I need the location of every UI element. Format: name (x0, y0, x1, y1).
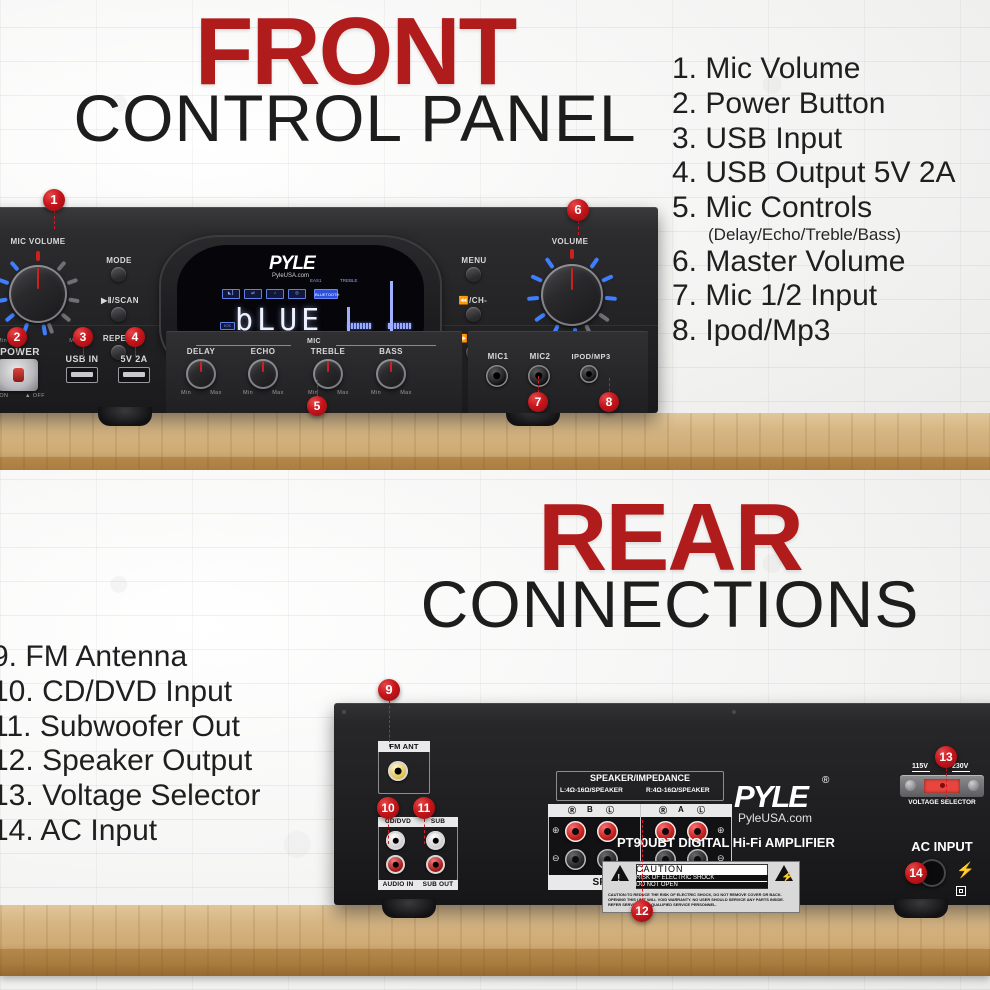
callout-badge-9[interactable]: 9 (378, 679, 400, 701)
post-label-r-a: Ⓡ (659, 805, 667, 816)
menu-button-label: MENU (450, 256, 498, 265)
mic-group-label: MIC (290, 338, 338, 345)
callout-badge-3[interactable]: 3 (73, 327, 93, 347)
registered-mark-rear: ® (822, 775, 829, 786)
volume-label: VOLUME (534, 237, 606, 246)
pyle-site-display: PyleUSA.com (272, 273, 309, 279)
usb-in-label: USB IN (56, 354, 108, 364)
pyle-site-rear: PyleUSA.com (738, 811, 812, 825)
mic2-jack[interactable] (528, 365, 550, 387)
legend-item: 1. Mic Volume (672, 52, 956, 87)
treble-max-label: Max (334, 390, 352, 396)
legend-item: 3. USB Input (672, 122, 956, 157)
bass-min-label: Min (367, 390, 385, 396)
sd-icon: ♪ (266, 289, 284, 299)
mic1-jack[interactable] (486, 365, 508, 387)
rear-heading-subtitle: CONNECTIONS (350, 574, 990, 635)
audio-in-label: AUDIO IN (378, 880, 418, 890)
usb-in-port[interactable] (66, 367, 98, 383)
play-scan-button-label: ▶Ⅱ/SCAN (91, 296, 149, 305)
echo-knob-label: ECHO (242, 347, 284, 356)
callout-badge-13[interactable]: 13 (935, 746, 957, 768)
power-label: POWER (0, 347, 48, 358)
speaker-post-black-rb[interactable] (565, 849, 586, 870)
usb-icon: ⇌ (244, 289, 262, 299)
voltage-selector-housing[interactable] (900, 775, 984, 797)
callout-badge-10[interactable]: 10 (377, 797, 399, 819)
post-label-l-a: Ⓛ (697, 805, 705, 816)
delay-knob[interactable] (186, 359, 216, 389)
legend-item: 6. Master Volume (672, 245, 956, 280)
callout-badge-7[interactable]: 7 (528, 392, 548, 412)
mode-button[interactable] (111, 267, 126, 282)
signal-icon: ◣┃ (222, 289, 240, 299)
pyle-logo-display: PYLE (269, 253, 315, 275)
usb-out-label: 5V 2A (108, 354, 160, 364)
caution-shock-line: RISK OF ELECTRIC SHOCK (636, 875, 768, 881)
callout-badge-12[interactable]: 12 (631, 900, 653, 922)
power-switch[interactable] (0, 359, 38, 391)
legend-item: 11. Subwoofer Out (0, 710, 261, 745)
legend-item: 12. Speaker Output (0, 744, 261, 779)
callout-badge-6[interactable]: 6 (567, 199, 589, 221)
pyle-logo-rear: PYLE (734, 779, 807, 815)
spectrum-bars-left (348, 281, 371, 329)
front-heading: FRONT CONTROL PANEL (35, 8, 675, 149)
sub-out-left-jack[interactable] (426, 831, 445, 850)
voltage-selector-label: VOLTAGE SELECTOR (896, 799, 988, 806)
legend-item: 9. FM Antenna (0, 640, 261, 675)
callout-badge-4[interactable]: 4 (125, 327, 145, 347)
ac-input-label: AC INPUT (894, 839, 990, 854)
callout-badge-11[interactable]: 11 (413, 797, 435, 819)
callout-badge-1[interactable]: 1 (43, 189, 65, 211)
echo-knob[interactable] (248, 359, 278, 389)
amplifier-foot (382, 899, 436, 918)
model-name-rear: PT90UBT DIGITAL Hi-Fi AMPLIFIER (617, 835, 835, 850)
bluetooth-badge-icon: BLUETOOTH (314, 289, 338, 299)
callout-badge-8[interactable]: 8 (599, 392, 619, 412)
rear-heading: REAR CONNECTIONS (350, 494, 990, 635)
bass-max-label: Max (397, 390, 415, 396)
voltage-115-label: 115V (912, 763, 928, 770)
speaker-post-red-lb[interactable] (597, 821, 618, 842)
shelf-surface (0, 905, 990, 949)
mic1-jack-label: MIC1 (478, 352, 518, 361)
post-label-b: B (587, 805, 593, 814)
mic-volume-knob[interactable] (9, 265, 67, 323)
mic2-jack-label: MIC2 (520, 352, 560, 361)
echo-max-label: Max (269, 390, 287, 396)
band-label-left: EAS1 (310, 278, 322, 283)
wooden-shelf-bottom (0, 905, 990, 976)
legend-item: 8. Ipod/Mp3 (672, 314, 956, 349)
legend-item: 13. Voltage Selector (0, 779, 261, 814)
play-scan-button[interactable] (111, 307, 126, 322)
mode-button-label: MODE (95, 256, 143, 265)
ipod-mp3-jack[interactable] (580, 365, 598, 383)
legend-item: 2. Power Button (672, 87, 956, 122)
shelf-edge (0, 949, 990, 976)
speaker-impedance-right-spec: R:4Ω-16Ω/SPEAKER (646, 787, 710, 794)
master-volume-knob[interactable] (541, 264, 603, 326)
power-off-label: ▲ OFF (20, 393, 50, 399)
legend-item: 7. Mic 1/2 Input (672, 279, 956, 314)
speaker-post-red-rb[interactable] (565, 821, 586, 842)
bass-knob[interactable] (376, 359, 406, 389)
rear-legend-list: 9. FM Antenna 10. CD/DVD Input 11. Subwo… (0, 640, 261, 849)
amplifier-foot (98, 407, 152, 426)
fm-antenna-label: FM ANT (378, 741, 430, 752)
mic-volume-label: MIC VOLUME (0, 237, 84, 246)
treble-min-label: Min (304, 390, 322, 396)
menu-button[interactable] (466, 267, 481, 282)
speaker-impedance-title: SPEAKER/IMPEDANCE (556, 771, 724, 786)
legend-item: 5. Mic Controls (672, 191, 956, 226)
callout-badge-2[interactable]: 2 (7, 327, 27, 347)
amplifier-front-panel: MIC VOLUME Min Max MODE ▶Ⅱ/SCAN (0, 207, 658, 413)
power-on-label: ▬ ON (0, 393, 14, 399)
cd-dvd-right-jack[interactable] (386, 855, 405, 874)
post-label-a: A (678, 805, 684, 814)
channel-down-button-label: ⏪/CH- (444, 296, 502, 305)
fm-antenna-jack[interactable] (388, 761, 408, 781)
post-label-r-b: Ⓡ (568, 805, 576, 816)
front-legend-list: 1. Mic Volume 2. Power Button 3. USB Inp… (672, 52, 956, 349)
bass-knob-label: BASS (370, 347, 412, 356)
amplifier-foot (894, 899, 948, 918)
class2-square-icon (956, 886, 966, 896)
lightning-bolt-icon: ⚡ (956, 861, 975, 879)
channel-down-button[interactable] (466, 307, 481, 322)
front-heading-subtitle: CONTROL PANEL (35, 88, 675, 149)
voltage-230-label: 230V (952, 763, 968, 770)
delay-max-label: Max (207, 390, 225, 396)
delay-knob-label: DELAY (180, 347, 222, 356)
caution-donotopen-line: DO NOT OPEN (636, 882, 768, 888)
plus-terminal-symbol-left: ⊕ (552, 825, 560, 836)
legend-item: 4. USB Output 5V 2A (672, 156, 956, 191)
legend-item: 14. AC Input (0, 814, 261, 849)
caution-title: CAUTION (636, 864, 768, 874)
sub-out-label: SUB OUT (418, 880, 458, 890)
ics-indicator-icon: ICS (220, 322, 235, 330)
callout-badge-14[interactable]: 14 (905, 862, 927, 884)
post-label-l-b: Ⓛ (606, 805, 614, 816)
legend-item-sublabel: (Delay/Echo/Treble/Bass) (672, 226, 956, 245)
minus-terminal-symbol-left: ⊖ (552, 853, 560, 864)
echo-min-label: Min (239, 390, 257, 396)
delay-min-label: Min (177, 390, 195, 396)
callout-badge-5[interactable]: 5 (307, 396, 327, 416)
treble-knob-label: TREBLE (305, 347, 351, 356)
speaker-impedance-left-spec: L:4Ω-16Ω/SPEAKER (560, 787, 623, 794)
usb-out-port[interactable] (118, 367, 150, 383)
voltage-selector-switch[interactable] (924, 779, 960, 793)
sub-out-right-jack[interactable] (426, 855, 445, 874)
disc-icon: ◎ (288, 289, 306, 299)
legend-item: 10. CD/DVD Input (0, 675, 261, 710)
ipod-mp3-jack-label: IPOD/MP3 (564, 352, 618, 361)
